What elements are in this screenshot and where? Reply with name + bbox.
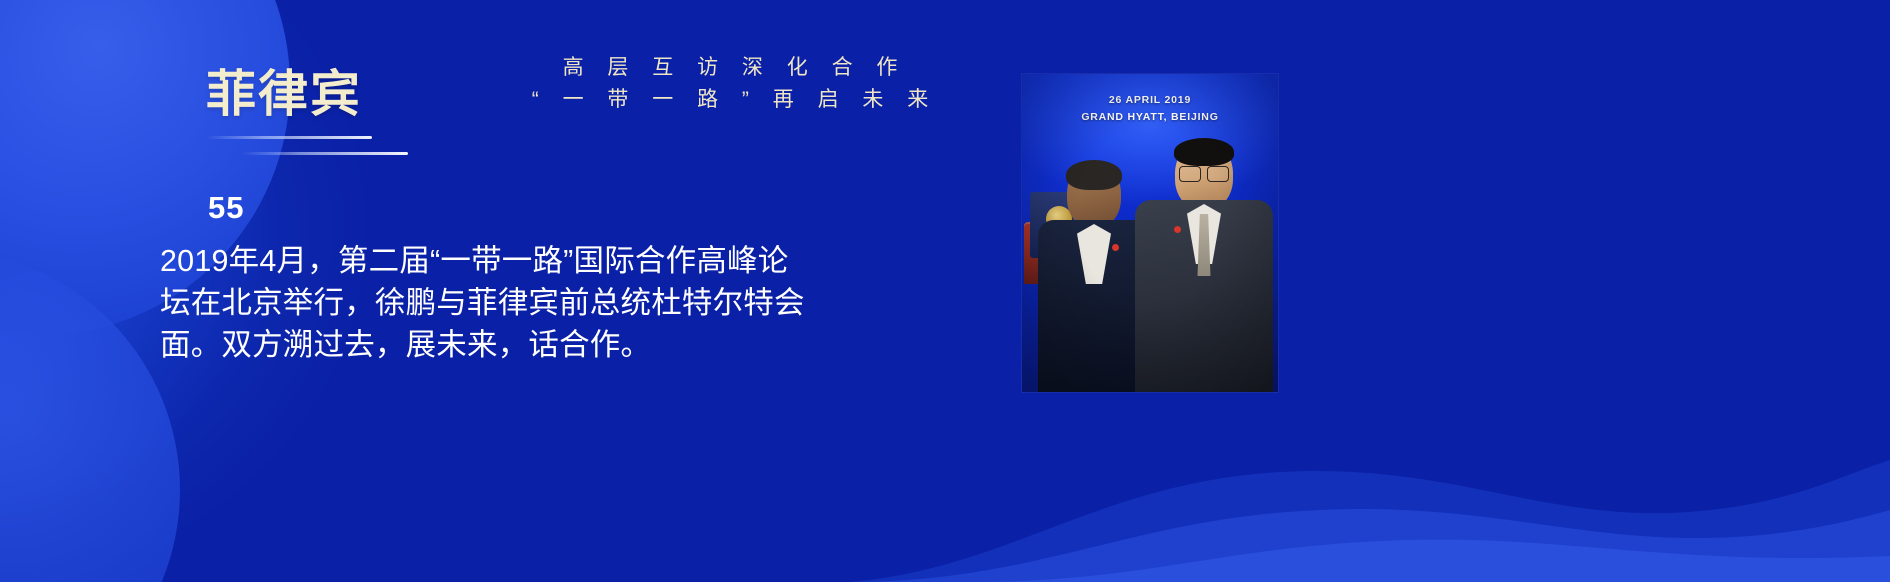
headline-line-1: 高 层 互 访 深 化 合 作 [470, 52, 990, 84]
slide-number: 55 [208, 190, 244, 226]
title-underline-group [206, 130, 606, 170]
photo-inner: 26 APRIL 2019 GRAND HYATT, BEIJING [1022, 74, 1278, 392]
background-wave-decoration [850, 332, 1890, 582]
headline-line-2: “ 一 带 一 路 ” 再 启 未 来 [470, 84, 990, 116]
headline: 高 层 互 访 深 化 合 作 “ 一 带 一 路 ” 再 启 未 来 [470, 52, 990, 115]
body-line-1: 2019年4月，第二届“一带一路”国际合作高峰论 [160, 240, 860, 282]
meeting-photo: 26 APRIL 2019 GRAND HYATT, BEIJING [1022, 74, 1278, 392]
body-copy: 2019年4月，第二届“一带一路”国际合作高峰论 坛在北京举行，徐鹏与菲律宾前总… [160, 240, 860, 366]
title-underline-lower [242, 152, 408, 155]
title-underline-upper [206, 136, 372, 139]
body-line-2: 坛在北京举行，徐鹏与菲律宾前总统杜特尔特会 [160, 282, 860, 324]
photo-vignette [1022, 74, 1278, 392]
body-line-3: 面。双方溯过去，展未来，话合作。 [160, 324, 860, 366]
